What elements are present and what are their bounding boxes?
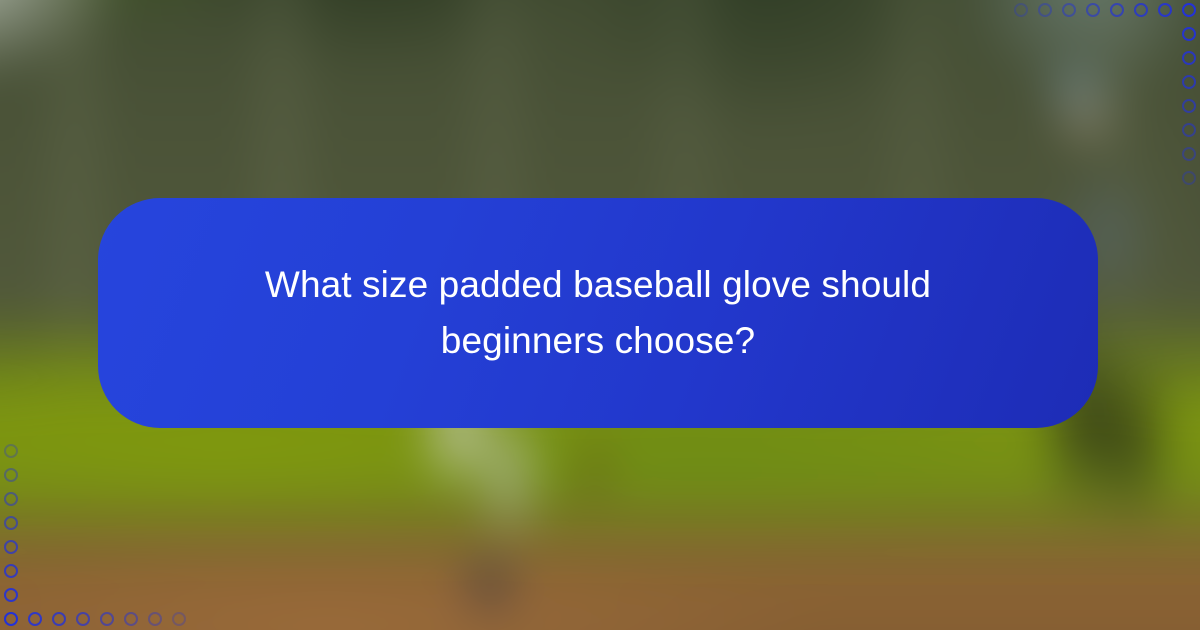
decorative-dot [100,612,114,626]
decorative-dot [124,612,138,626]
decorative-dot [4,516,18,530]
decorative-dot [1182,171,1196,185]
decorative-dot [1182,75,1196,89]
decorative-dot [1182,147,1196,161]
decorative-dots-bottom-left [4,444,196,626]
decorative-dot [76,612,90,626]
question-card: What size padded baseball glove should b… [98,198,1098,428]
dot-row-bottom-left [4,612,196,626]
decorative-dot [1014,3,1028,17]
decorative-dot [28,612,42,626]
dot-column-top-right [1004,27,1196,195]
decorative-dot [4,540,18,554]
decorative-dot [1182,51,1196,65]
dot-column-bottom-left [4,444,196,612]
question-text: What size padded baseball glove should b… [238,257,958,369]
decorative-dot [1110,3,1124,17]
decorative-dot [1182,3,1196,17]
decorative-dot [1134,3,1148,17]
decorative-dot [1086,3,1100,17]
decorative-dot [172,612,186,626]
decorative-dot [1158,3,1172,17]
decorative-dot [52,612,66,626]
decorative-dot [4,564,18,578]
decorative-dot [1038,3,1052,17]
decorative-dot [4,492,18,506]
decorative-dot [1182,99,1196,113]
decorative-dot [1182,123,1196,137]
decorative-dot [4,612,18,626]
decorative-dot [1062,3,1076,17]
decorative-dots-top-right [1004,3,1196,195]
decorative-dot [4,444,18,458]
decorative-dot [4,468,18,482]
decorative-dot [4,588,18,602]
decorative-dot [148,612,162,626]
decorative-dot [1182,27,1196,41]
dot-row-top-right [1004,3,1196,17]
screenshot-canvas: What size padded baseball glove should b… [0,0,1200,630]
